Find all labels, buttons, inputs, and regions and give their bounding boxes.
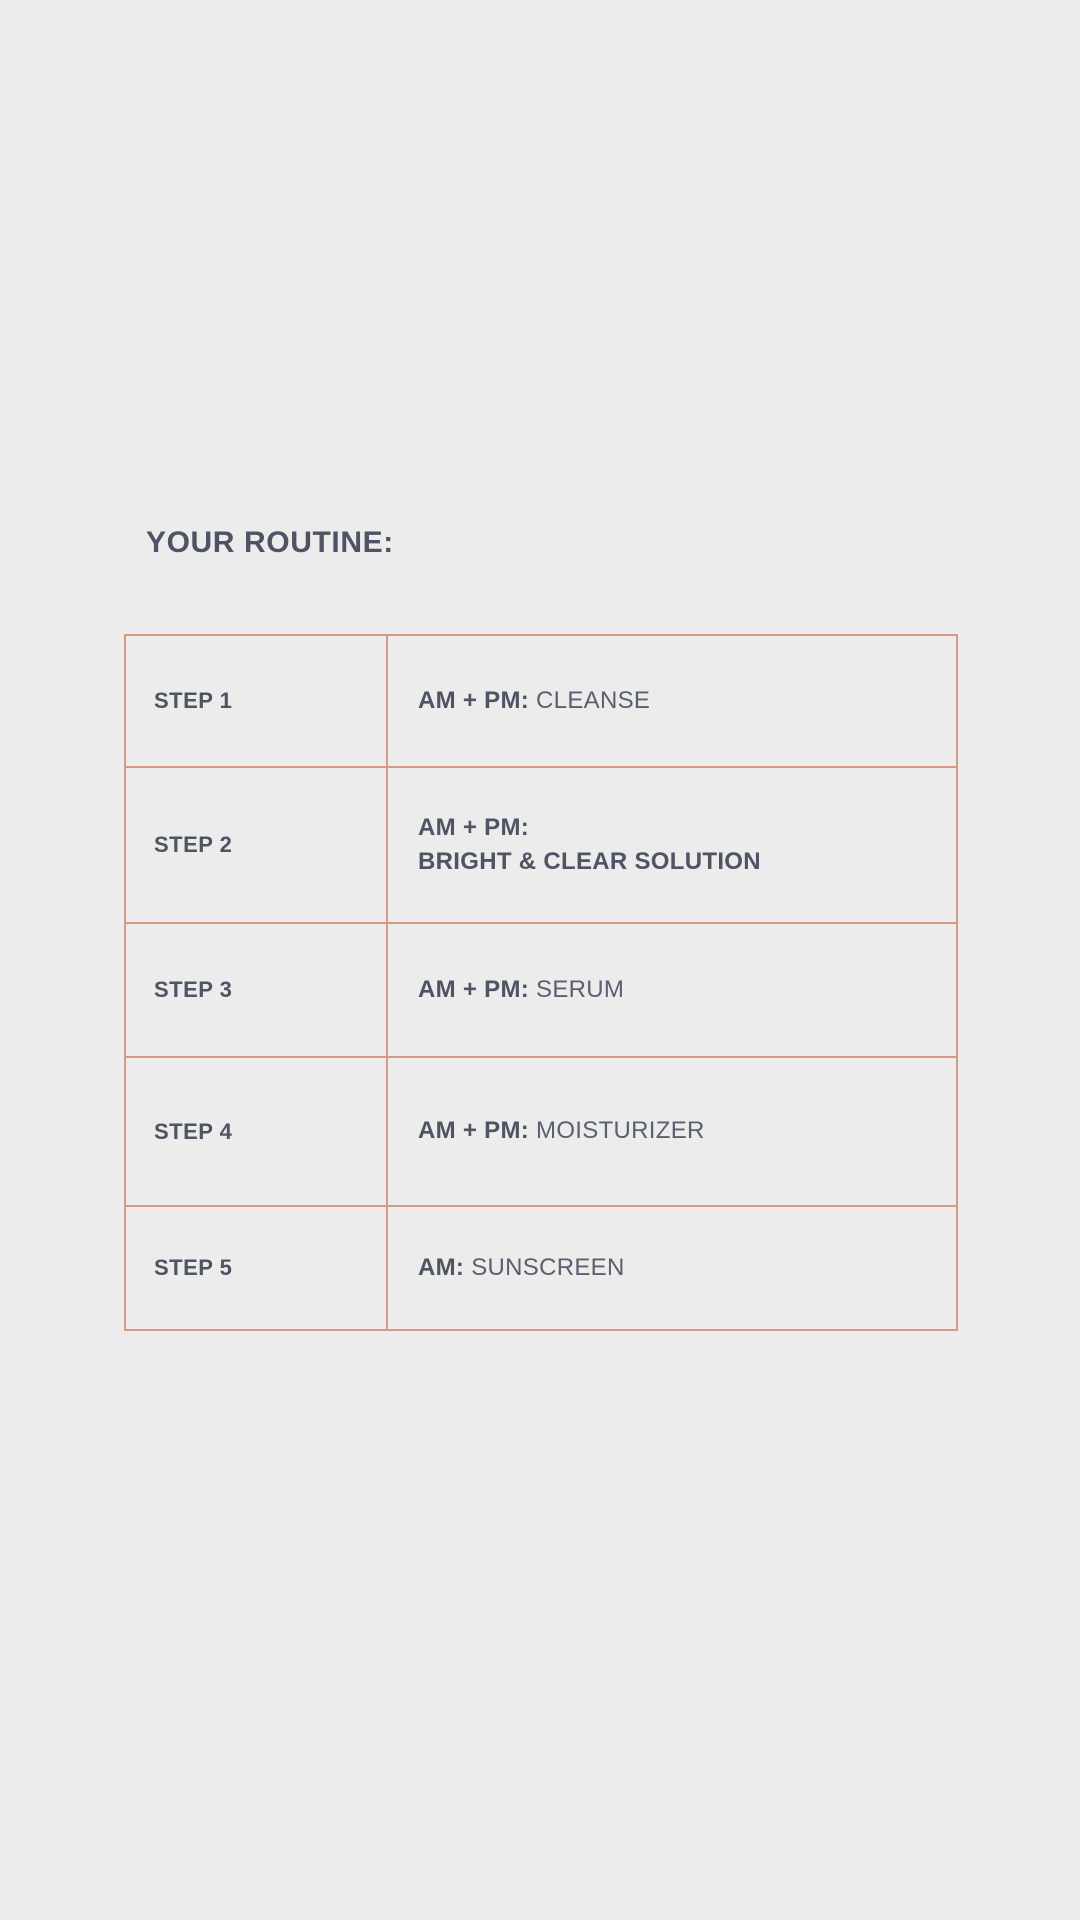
detail-value: BRIGHT & CLEAR SOLUTION: [418, 848, 761, 875]
step-detail-cell: AM: SUNSCREEN: [388, 1207, 956, 1329]
detail-label: AM + PM:: [418, 687, 536, 714]
detail-line: AM: SUNSCREEN: [418, 1251, 936, 1285]
step-label-cell: STEP 1: [126, 636, 388, 766]
detail-value: SUNSCREEN: [471, 1254, 624, 1281]
routine-table: STEP 1 AM + PM: CLEANSE STEP 2 AM + PM: …: [124, 634, 958, 1331]
step-detail-cell: AM + PM: SERUM: [388, 924, 956, 1056]
detail-value: SERUM: [536, 976, 624, 1003]
step-detail-cell: AM + PM: CLEANSE: [388, 636, 956, 766]
step-label-cell: STEP 4: [126, 1058, 388, 1205]
detail-value: MOISTURIZER: [536, 1117, 705, 1144]
table-row: STEP 5 AM: SUNSCREEN: [126, 1207, 956, 1329]
step-detail-cell: AM + PM: MOISTURIZER: [388, 1058, 956, 1205]
step-label-cell: STEP 3: [126, 924, 388, 1056]
detail-line: BRIGHT & CLEAR SOLUTION: [418, 845, 936, 879]
step-label-cell: STEP 2: [126, 768, 388, 922]
detail-label: AM + PM:: [418, 1117, 536, 1144]
detail-line: AM + PM: CLEANSE: [418, 684, 936, 718]
table-row: STEP 2 AM + PM: BRIGHT & CLEAR SOLUTION: [126, 768, 956, 924]
detail-label: AM:: [418, 1254, 471, 1281]
routine-page: YOUR ROUTINE: STEP 1 AM + PM: CLEANSE ST…: [0, 0, 1080, 1920]
table-row: STEP 3 AM + PM: SERUM: [126, 924, 956, 1058]
detail-label: AM + PM:: [418, 976, 536, 1003]
step-detail-cell: AM + PM: BRIGHT & CLEAR SOLUTION: [388, 768, 956, 922]
detail-label: AM + PM:: [418, 814, 529, 841]
table-row: STEP 4 AM + PM: MOISTURIZER: [126, 1058, 956, 1207]
detail-line: AM + PM:: [418, 811, 936, 845]
detail-line: AM + PM: MOISTURIZER: [418, 1114, 936, 1148]
page-title: YOUR ROUTINE:: [146, 525, 394, 561]
table-row: STEP 1 AM + PM: CLEANSE: [126, 636, 956, 768]
step-label-cell: STEP 5: [126, 1207, 388, 1329]
detail-value: CLEANSE: [536, 687, 650, 714]
detail-line: AM + PM: SERUM: [418, 973, 936, 1007]
